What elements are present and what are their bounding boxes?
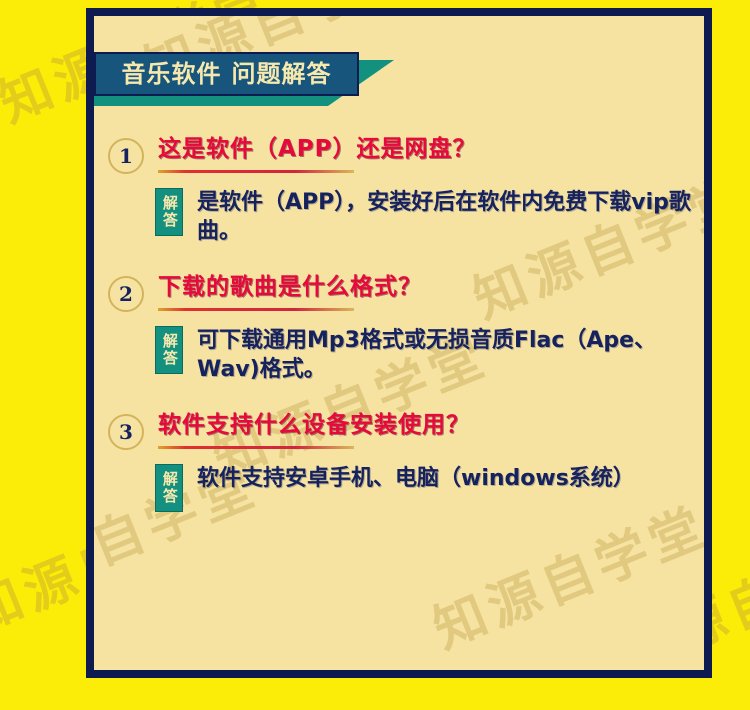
- question-text-wrap: 这是软件（APP）还是网盘？: [158, 136, 708, 173]
- answer-text: 是软件（APP），安装好后在软件内免费下载vip歌曲。: [197, 188, 708, 246]
- question-underline: [158, 170, 354, 173]
- question-row: 2 下载的歌曲是什么格式？: [108, 274, 708, 312]
- answer-badge: 解答: [155, 188, 183, 236]
- banner-subtitle: 问题解答: [232, 62, 332, 86]
- question-underline: [158, 446, 354, 449]
- question-number-badge: 2: [108, 276, 144, 312]
- banner-box: 音乐软件 问题解答: [94, 52, 359, 96]
- poster-root: 知源自学堂 知源自学堂 知源自学堂 知源自学堂 知源自学堂 知源自学堂 知源自学…: [0, 0, 750, 710]
- answer-row: 解答 可下载通用Mp3格式或无损音质Flac（Ape、Wav)格式。: [155, 326, 708, 384]
- qa-list: 1 这是软件（APP）还是网盘？ 解答 是软件（APP），安装好后在软件内免费下…: [108, 136, 708, 540]
- question-underline: [158, 308, 354, 311]
- question-text-wrap: 下载的歌曲是什么格式？: [158, 274, 708, 311]
- answer-badge: 解答: [155, 464, 183, 512]
- answer-text: 可下载通用Mp3格式或无损音质Flac（Ape、Wav)格式。: [197, 326, 708, 384]
- question-number-badge: 3: [108, 414, 144, 450]
- answer-row: 解答 软件支持安卓手机、电脑（windows系统）: [155, 464, 708, 512]
- question-row: 1 这是软件（APP）还是网盘？: [108, 136, 708, 174]
- qa-item: 1 这是软件（APP）还是网盘？ 解答 是软件（APP），安装好后在软件内免费下…: [108, 136, 708, 246]
- question-text-wrap: 软件支持什么设备安装使用？: [158, 412, 708, 449]
- qa-item: 3 软件支持什么设备安装使用？ 解答 软件支持安卓手机、电脑（windows系统…: [108, 412, 708, 512]
- question-row: 3 软件支持什么设备安装使用？: [108, 412, 708, 450]
- question-text: 这是软件（APP）还是网盘？: [158, 136, 708, 164]
- answer-text: 软件支持安卓手机、电脑（windows系统）: [197, 464, 708, 493]
- answer-badge: 解答: [155, 326, 183, 374]
- banner-title: 音乐软件: [122, 62, 222, 86]
- question-text: 下载的歌曲是什么格式？: [158, 274, 708, 302]
- header-banner: 音乐软件 问题解答: [94, 52, 424, 102]
- qa-item: 2 下载的歌曲是什么格式？ 解答 可下载通用Mp3格式或无损音质Flac（Ape…: [108, 274, 708, 384]
- content-frame: 知源自学堂 知源自学堂 知源自学堂 知源自学堂 知源自学堂 音乐软件 问题解答 …: [86, 8, 712, 678]
- answer-row: 解答 是软件（APP），安装好后在软件内免费下载vip歌曲。: [155, 188, 708, 246]
- question-text: 软件支持什么设备安装使用？: [158, 412, 708, 440]
- question-number-badge: 1: [108, 138, 144, 174]
